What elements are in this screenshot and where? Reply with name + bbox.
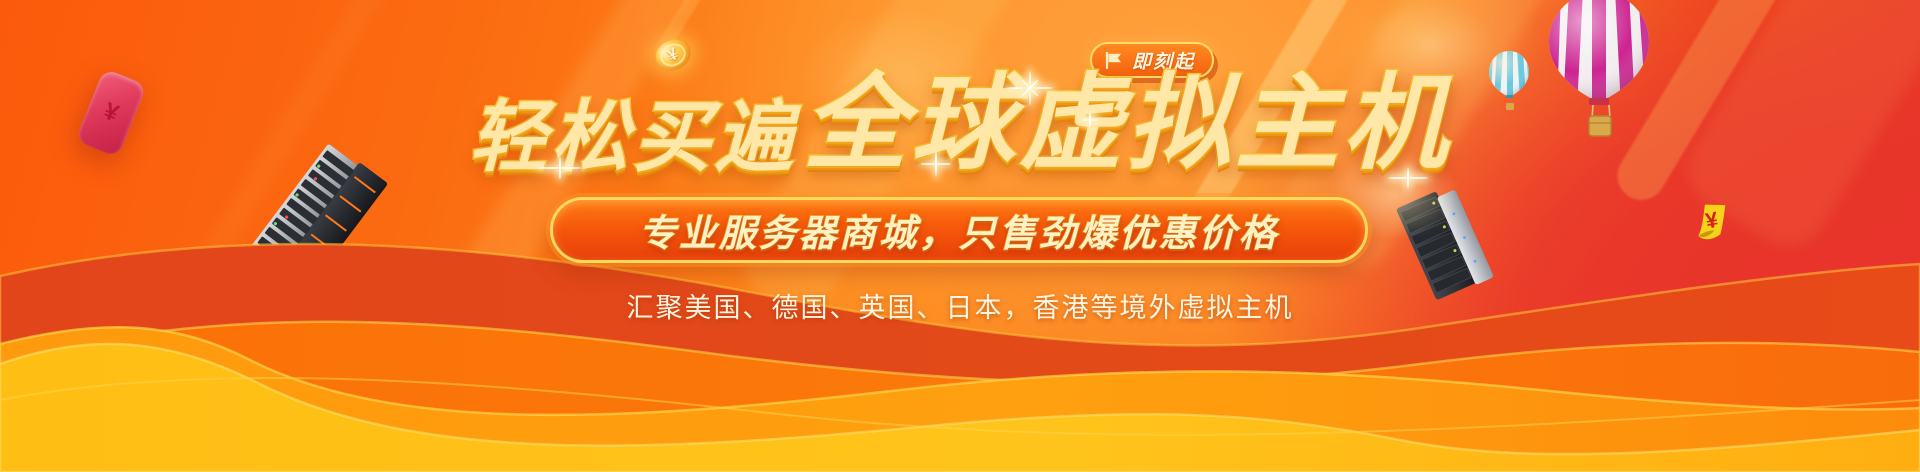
subheadline-text: 专业服务器商城，只售劲爆优惠价格 [639,203,1279,257]
headline-part-small: 轻松买遍 [469,98,797,176]
page-title: 轻松买遍全球虚拟主机 [0,72,1920,176]
tagline: 汇聚美国、德国、英国、日本，香港等境外虚拟主机 [0,286,1920,325]
banner-content: 即刻起 轻松买遍全球虚拟主机 专 [0,0,1920,472]
promo-banner: ¥ [0,0,1920,472]
subheadline-pill: 专业服务器商城，只售劲爆优惠价格 [550,197,1368,263]
headline-part-big: 全球虚拟主机 [803,72,1451,176]
